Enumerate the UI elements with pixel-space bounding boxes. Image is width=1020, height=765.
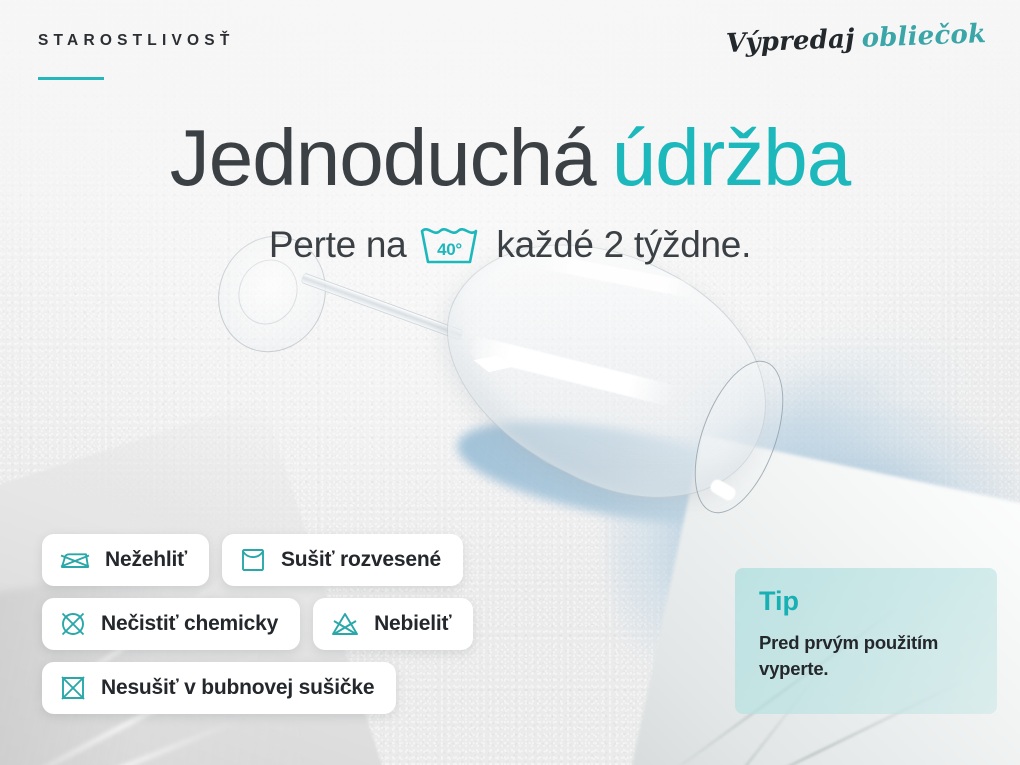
page-title: Jednoducháúdržba bbox=[0, 118, 1020, 198]
care-pill-do-not-bleach[interactable]: Nebieliť bbox=[313, 598, 473, 650]
wash-40-degrees-icon: 40° bbox=[417, 222, 485, 268]
care-symbol-list: Nežehliť Sušiť rozvesené bbox=[42, 534, 662, 726]
care-pill-do-not-tumble-dry[interactable]: Nesušiť v bubnovej sušičke bbox=[42, 662, 396, 714]
tip-body: Pred prvým použitím vyperte. bbox=[759, 630, 975, 683]
kicker-underline bbox=[38, 77, 104, 80]
poster-content: STAROSTLIVOSŤ Výpredajobliečok Jednoduch… bbox=[0, 0, 1020, 765]
brand-logo[interactable]: Výpredajobliečok bbox=[725, 19, 986, 59]
do-not-iron-icon bbox=[58, 546, 92, 574]
do-not-dry-clean-icon bbox=[58, 609, 88, 639]
wash-temperature-text: 40° bbox=[438, 240, 463, 259]
care-pill-label: Nebieliť bbox=[374, 612, 451, 636]
headline-accent: údržba bbox=[612, 113, 851, 202]
line-dry-icon bbox=[238, 545, 268, 575]
care-pill-label: Nesušiť v bubnovej sušičke bbox=[101, 676, 374, 700]
tip-card: Tip Pred prvým použitím vyperte. bbox=[735, 568, 997, 714]
care-pill-label: Nežehliť bbox=[105, 548, 187, 572]
brand-name-primary: Výpredaj bbox=[725, 24, 855, 59]
subhead-text-before: Perte na bbox=[269, 224, 406, 266]
care-row-2: Nečistiť chemicky Nebieliť bbox=[42, 598, 662, 650]
care-row-1: Nežehliť Sušiť rozvesené bbox=[42, 534, 662, 586]
care-pill-do-not-dry-clean[interactable]: Nečistiť chemicky bbox=[42, 598, 300, 650]
subhead: Perte na 40° každé 2 týždne. bbox=[0, 222, 1020, 268]
care-row-3: Nesušiť v bubnovej sušičke bbox=[42, 662, 662, 714]
care-pill-label: Sušiť rozvesené bbox=[281, 548, 441, 572]
kicker-label: STAROSTLIVOSŤ bbox=[38, 32, 234, 50]
headline-dark: Jednoduchá bbox=[170, 113, 596, 202]
care-instructions-poster: STAROSTLIVOSŤ Výpredajobliečok Jednoduch… bbox=[0, 0, 1020, 765]
tip-title: Tip bbox=[759, 588, 975, 615]
do-not-tumble-dry-icon bbox=[58, 673, 88, 703]
care-pill-line-dry[interactable]: Sušiť rozvesené bbox=[222, 534, 463, 586]
do-not-bleach-icon bbox=[329, 610, 361, 638]
subhead-text-after: každé 2 týždne. bbox=[496, 224, 751, 266]
care-pill-do-not-iron[interactable]: Nežehliť bbox=[42, 534, 209, 586]
care-pill-label: Nečistiť chemicky bbox=[101, 612, 278, 636]
brand-name-secondary: obliečok bbox=[861, 19, 987, 54]
